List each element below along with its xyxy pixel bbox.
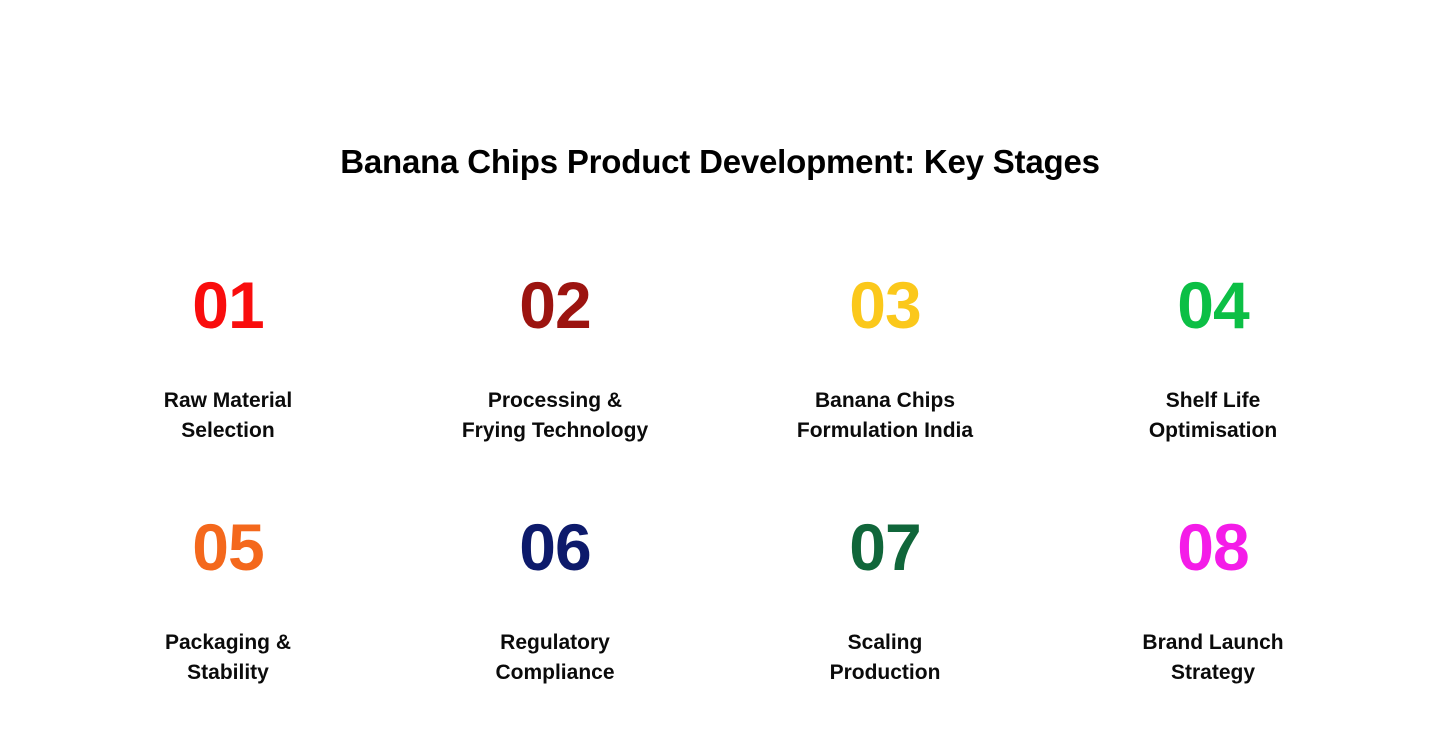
- stage-label-07-line2: Production: [830, 658, 941, 688]
- stage-number-06: 06: [519, 514, 590, 580]
- stage-number-03: 03: [849, 272, 920, 338]
- stage-item-07[interactable]: 07 Scaling Production: [720, 504, 1050, 746]
- stage-label-06: Regulatory Compliance: [495, 628, 614, 689]
- stage-item-02[interactable]: 02 Processing & Frying Technology: [390, 262, 720, 504]
- stage-label-08-line2: Strategy: [1142, 658, 1283, 688]
- stage-label-03-line2: Formulation India: [797, 416, 973, 446]
- stage-item-03[interactable]: 03 Banana Chips Formulation India: [720, 262, 1050, 504]
- stage-item-01[interactable]: 01 Raw Material Selection: [60, 262, 390, 504]
- stage-item-08[interactable]: 08 Brand Launch Strategy: [1050, 504, 1380, 746]
- stage-number-04: 04: [1177, 272, 1248, 338]
- stage-number-07: 07: [849, 514, 920, 580]
- stage-label-04-line2: Optimisation: [1149, 416, 1277, 446]
- stage-label-03: Banana Chips Formulation India: [797, 386, 973, 447]
- stage-label-07-line1: Scaling: [830, 628, 941, 658]
- stage-label-02: Processing & Frying Technology: [462, 386, 648, 447]
- stage-number-05: 05: [192, 514, 263, 580]
- stage-label-01-line2: Selection: [164, 416, 292, 446]
- stage-label-06-line1: Regulatory: [495, 628, 614, 658]
- stage-item-06[interactable]: 06 Regulatory Compliance: [390, 504, 720, 746]
- stage-label-06-line2: Compliance: [495, 658, 614, 688]
- stage-number-02: 02: [519, 272, 590, 338]
- stage-label-05: Packaging & Stability: [165, 628, 291, 689]
- stage-number-08: 08: [1177, 514, 1248, 580]
- stage-number-01: 01: [192, 272, 263, 338]
- stage-label-01-line1: Raw Material: [164, 386, 292, 416]
- stage-label-04-line1: Shelf Life: [1149, 386, 1277, 416]
- stage-label-04: Shelf Life Optimisation: [1149, 386, 1277, 447]
- stage-label-07: Scaling Production: [830, 628, 941, 689]
- stage-label-01: Raw Material Selection: [164, 386, 292, 447]
- stage-item-05[interactable]: 05 Packaging & Stability: [60, 504, 390, 746]
- stage-item-04[interactable]: 04 Shelf Life Optimisation: [1050, 262, 1380, 504]
- stage-label-08-line1: Brand Launch: [1142, 628, 1283, 658]
- stage-label-05-line2: Stability: [165, 658, 291, 688]
- stage-label-08: Brand Launch Strategy: [1142, 628, 1283, 689]
- stage-label-03-line1: Banana Chips: [797, 386, 973, 416]
- stage-grid: 01 Raw Material Selection 02 Processing …: [60, 262, 1380, 746]
- stage-label-05-line1: Packaging &: [165, 628, 291, 658]
- infographic-slide: Banana Chips Product Development: Key St…: [0, 0, 1440, 754]
- stage-label-02-line1: Processing &: [462, 386, 648, 416]
- stage-label-02-line2: Frying Technology: [462, 416, 648, 446]
- page-title: Banana Chips Product Development: Key St…: [0, 142, 1440, 182]
